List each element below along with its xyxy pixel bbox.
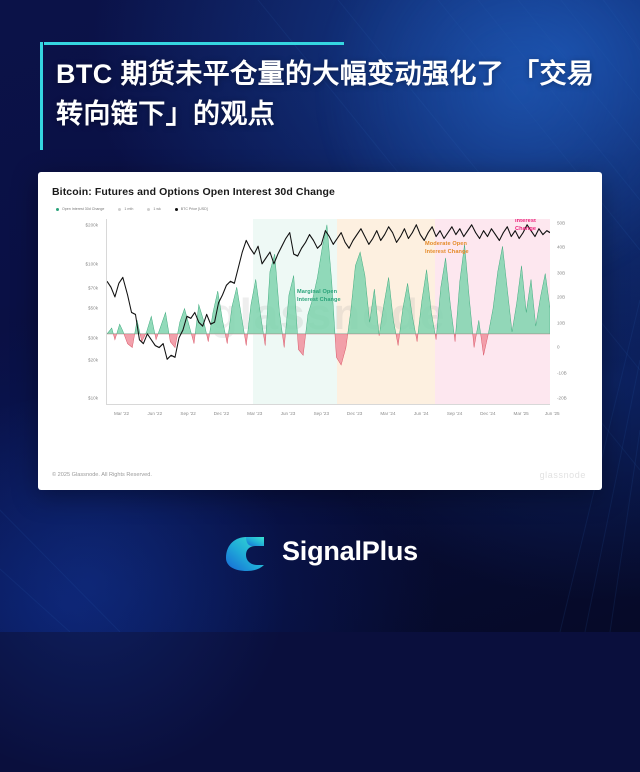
chart-title: Bitcoin: Futures and Options Open Intere… (52, 186, 586, 198)
glassnode-logo: glassnode (540, 470, 586, 480)
legend-item-1wk[interactable]: 1 wk (147, 207, 160, 211)
chart-card: Bitcoin: Futures and Options Open Intere… (38, 172, 602, 490)
x-tick: Mar '22 (114, 411, 129, 416)
signalplus-wave-logo-icon (222, 528, 268, 574)
legend-item-open-interest[interactable]: Open Interest 30d Change (56, 207, 104, 211)
y-tick-left: $100k (85, 261, 98, 266)
x-tick: Jun '24 (414, 411, 429, 416)
headline-block: BTC 期货未平仓量的大幅变动强化了 「交易转向链下」的观点 (40, 42, 604, 135)
x-tick: Sep '22 (180, 411, 195, 416)
y-tick-right: 10B (557, 321, 565, 326)
legend-label: Open Interest 30d Change (62, 207, 104, 211)
chart-card-footer: © 2025 Glassnode. All Rights Reserved. g… (52, 470, 586, 480)
chart-legend: Open Interest 30d Change 1 mth 1 wk BTC … (52, 207, 586, 211)
x-axis: Mar '22 Jun '22 Sep '22 Dec '22 Mar '23 … (106, 407, 550, 425)
chart-series-svg (107, 219, 550, 404)
legend-label: 1 mth (124, 207, 133, 211)
x-tick: Jun '22 (147, 411, 162, 416)
y-axis-right: 50B 40B 30B 20B 10B 0 -10B -20B (552, 219, 586, 405)
x-tick: Mar '23 (247, 411, 262, 416)
y-tick-left: $10k (88, 395, 98, 400)
annotation-aggressive: Aggressive Open Interest Change (515, 219, 550, 233)
headline-accent-bar-top (44, 42, 344, 45)
legend-swatch-icon (147, 208, 150, 211)
page-title: BTC 期货未平仓量的大幅变动强化了 「交易转向链下」的观点 (40, 55, 604, 135)
copyright-text: © 2025 Glassnode. All Rights Reserved. (52, 472, 152, 478)
legend-swatch-icon (175, 208, 178, 211)
y-tick-right: 20B (557, 295, 565, 300)
y-tick-right: -10B (557, 371, 567, 376)
y-tick-right: -20B (557, 395, 567, 400)
x-tick: Dec '23 (347, 411, 362, 416)
y-tick-right: 30B (557, 270, 565, 275)
legend-label: 1 wk (153, 207, 160, 211)
y-tick-left: $20k (88, 358, 98, 363)
legend-swatch-icon (56, 208, 59, 211)
y-axis-left: $200k $100k $70k $50k $30k $20k $10k (52, 219, 102, 405)
x-tick: Mar '25 (514, 411, 529, 416)
y-tick-right: 40B (557, 244, 565, 249)
chart-canvas[interactable]: glassnode Marginal Ope (106, 219, 550, 405)
y-tick-right: 0 (557, 345, 560, 350)
x-tick: Dec '22 (214, 411, 229, 416)
legend-item-1mth[interactable]: 1 mth (118, 207, 133, 211)
annotation-marginal: Marginal Open Interest Change (297, 289, 341, 304)
x-tick: Dec '24 (480, 411, 495, 416)
x-tick: Sep '24 (447, 411, 462, 416)
x-tick: Sep '23 (314, 411, 329, 416)
y-tick-right: 50B (557, 220, 565, 225)
y-tick-left: $30k (88, 336, 98, 341)
legend-swatch-icon (118, 208, 121, 211)
annotation-moderate: Moderate Open Interest Change (425, 241, 469, 256)
signalplus-wordmark: SignalPlus (282, 536, 418, 567)
chart-plot-area: $200k $100k $70k $50k $30k $20k $10k 50B… (52, 215, 586, 427)
y-tick-left: $70k (88, 285, 98, 290)
y-tick-left: $50k (88, 306, 98, 311)
y-tick-left: $200k (85, 222, 98, 227)
x-tick: Mar '24 (380, 411, 395, 416)
signalplus-brand: SignalPlus (0, 528, 640, 574)
x-tick: Jun '25 (545, 411, 560, 416)
legend-item-btc-price[interactable]: BTC Price [USD] (175, 207, 208, 211)
headline-accent-bar-left (40, 42, 43, 150)
x-tick: Jun '23 (281, 411, 296, 416)
legend-label: BTC Price [USD] (181, 207, 208, 211)
